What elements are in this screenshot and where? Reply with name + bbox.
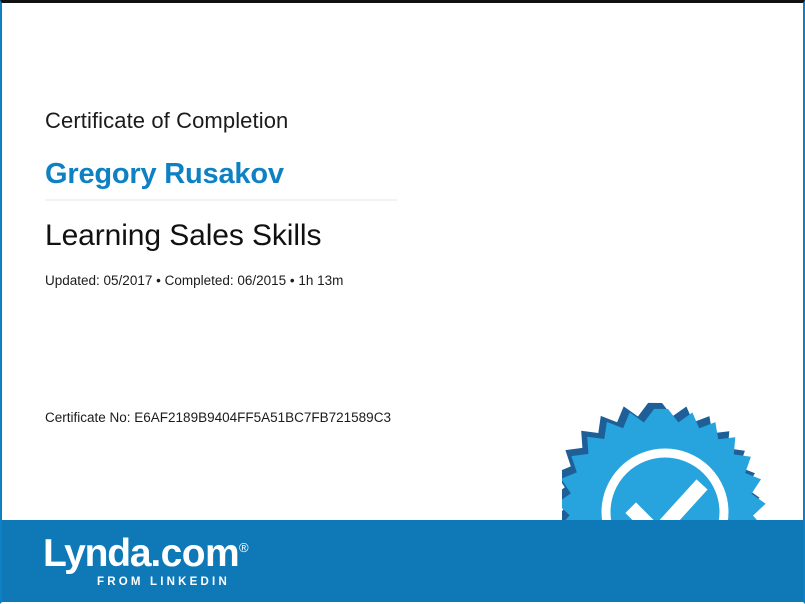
certificate-number: Certificate No: E6AF2189B9404FF5A51BC7FB… bbox=[45, 410, 391, 425]
certificate-card: Certificate of Completion Gregory Rusako… bbox=[0, 0, 805, 604]
section-divider bbox=[45, 199, 397, 201]
lynda-logo-name: Lynda bbox=[43, 532, 150, 575]
registered-trademark-icon: ® bbox=[239, 540, 249, 555]
course-title: Learning Sales Skills bbox=[45, 219, 321, 253]
course-meta: Updated: 05/2017 • Completed: 06/2015 • … bbox=[45, 273, 343, 288]
certificate-kicker: Certificate of Completion bbox=[45, 108, 288, 134]
footer-bar: Lynda.com® FROM LINKEDIN bbox=[2, 520, 803, 602]
lynda-logo: Lynda.com® FROM LINKEDIN bbox=[43, 534, 249, 588]
recipient-name: Gregory Rusakov bbox=[45, 158, 284, 191]
lynda-logo-tagline: FROM LINKEDIN bbox=[97, 576, 249, 588]
lynda-logo-wordmark: Lynda.com® bbox=[43, 534, 249, 573]
lynda-logo-dotcom: .com bbox=[150, 532, 239, 575]
